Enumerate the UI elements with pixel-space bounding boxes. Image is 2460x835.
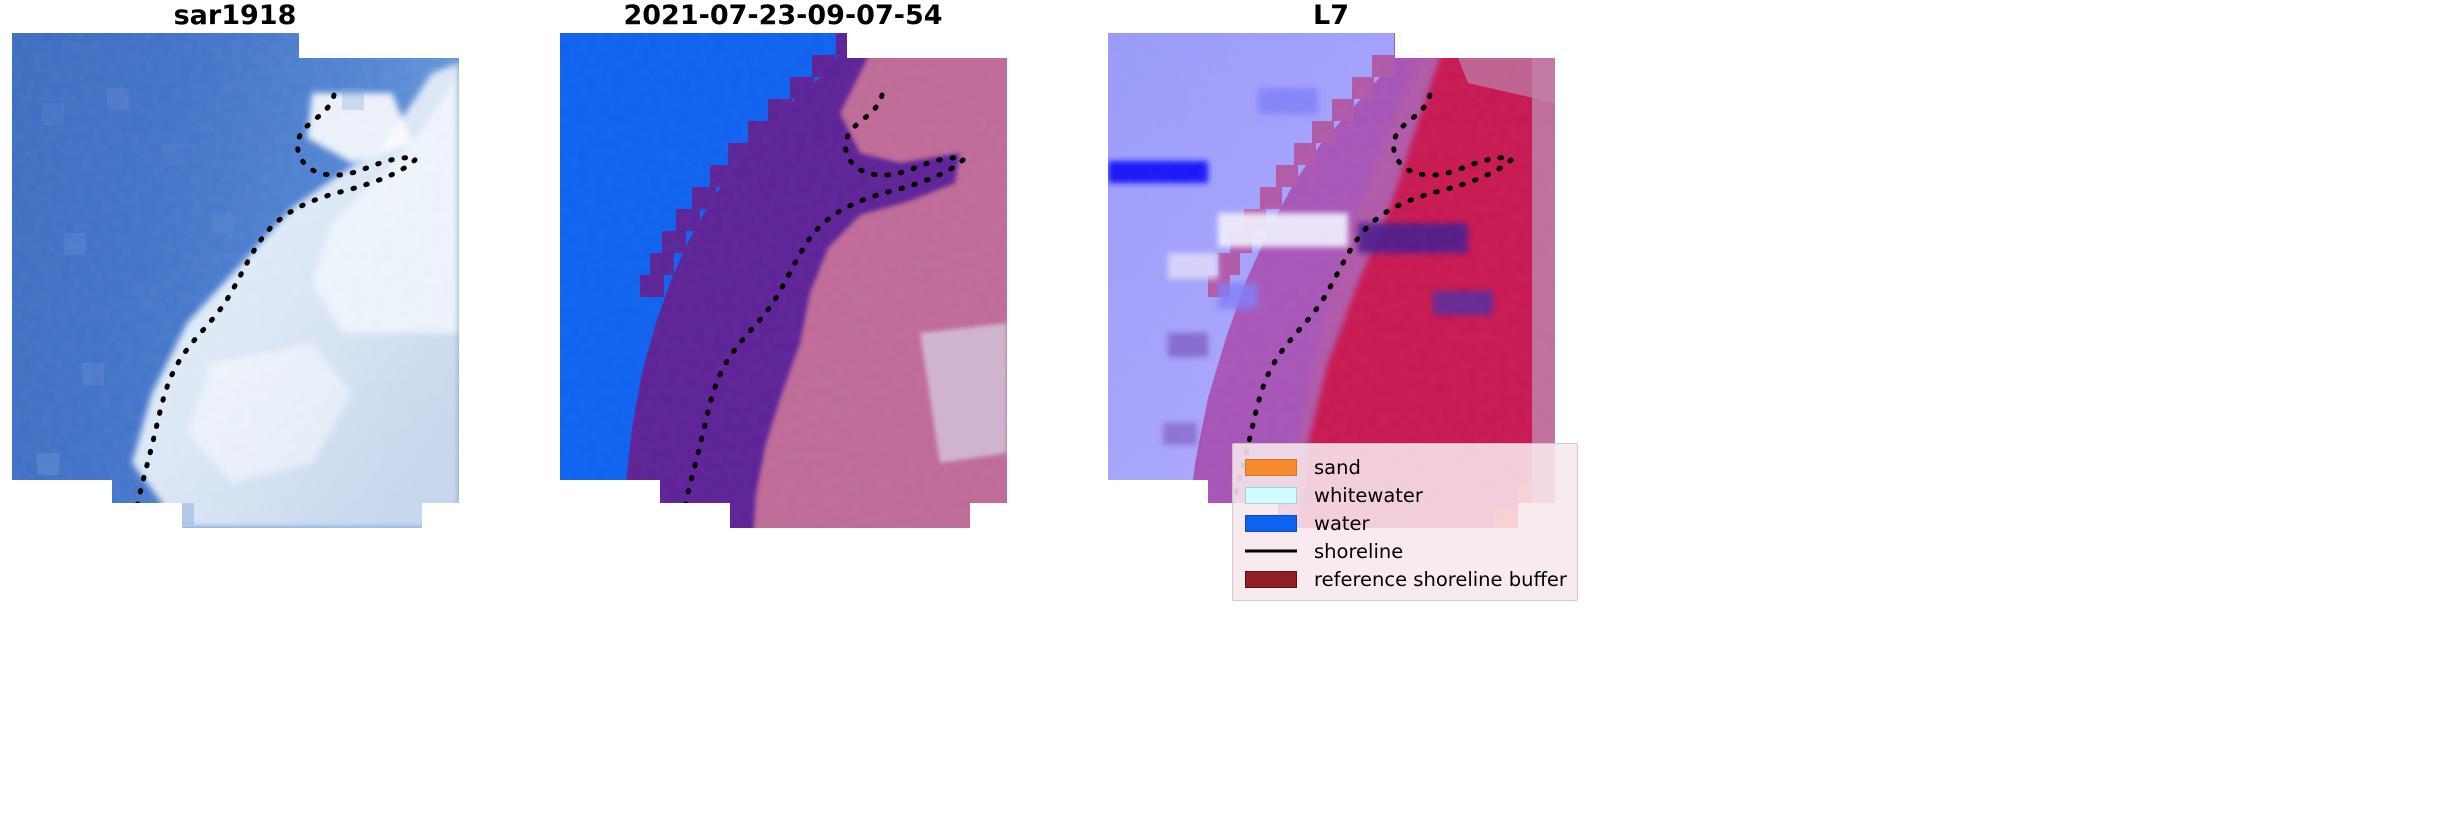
legend-label-reference-shoreline-buffer: reference shoreline buffer: [1314, 568, 1567, 591]
legend: sand whitewater water shoreline referenc…: [1232, 443, 1578, 601]
panel-title-sar1918: sar1918: [0, 0, 470, 31]
reference-shoreline-buffer-swatch: [1245, 571, 1297, 588]
legend-label-shoreline: shoreline: [1314, 540, 1403, 563]
whitewater-swatch: [1245, 487, 1297, 504]
sand-swatch: [1245, 459, 1297, 476]
legend-item-sand: sand: [1245, 453, 1567, 481]
panel-l7: L7: [1096, 0, 1566, 835]
water-swatch: [1245, 515, 1297, 532]
sar1918-image: [12, 33, 459, 828]
legend-item-water: water: [1245, 509, 1567, 537]
classification-image: [560, 33, 1007, 828]
legend-item-whitewater: whitewater: [1245, 481, 1567, 509]
shoreline-line-swatch: [1245, 543, 1297, 560]
l7-image: [1108, 33, 1555, 828]
legend-label-whitewater: whitewater: [1314, 484, 1423, 507]
panel-canvas-classification: [560, 33, 1007, 828]
panel-title-l7: L7: [1096, 0, 1566, 31]
legend-item-shoreline: shoreline: [1245, 537, 1567, 565]
panel-classification: 2021-07-23-09-07-54: [548, 0, 1018, 835]
legend-item-reference-shoreline-buffer: reference shoreline buffer: [1245, 565, 1567, 593]
panel-canvas-l7: [1108, 33, 1555, 828]
legend-label-water: water: [1314, 512, 1370, 535]
figure-root: sar1918: [0, 0, 2460, 835]
panel-canvas-sar1918: [12, 33, 459, 828]
panel-title-classification: 2021-07-23-09-07-54: [548, 0, 1018, 31]
panel-sar1918: sar1918: [0, 0, 470, 835]
legend-label-sand: sand: [1314, 456, 1361, 479]
